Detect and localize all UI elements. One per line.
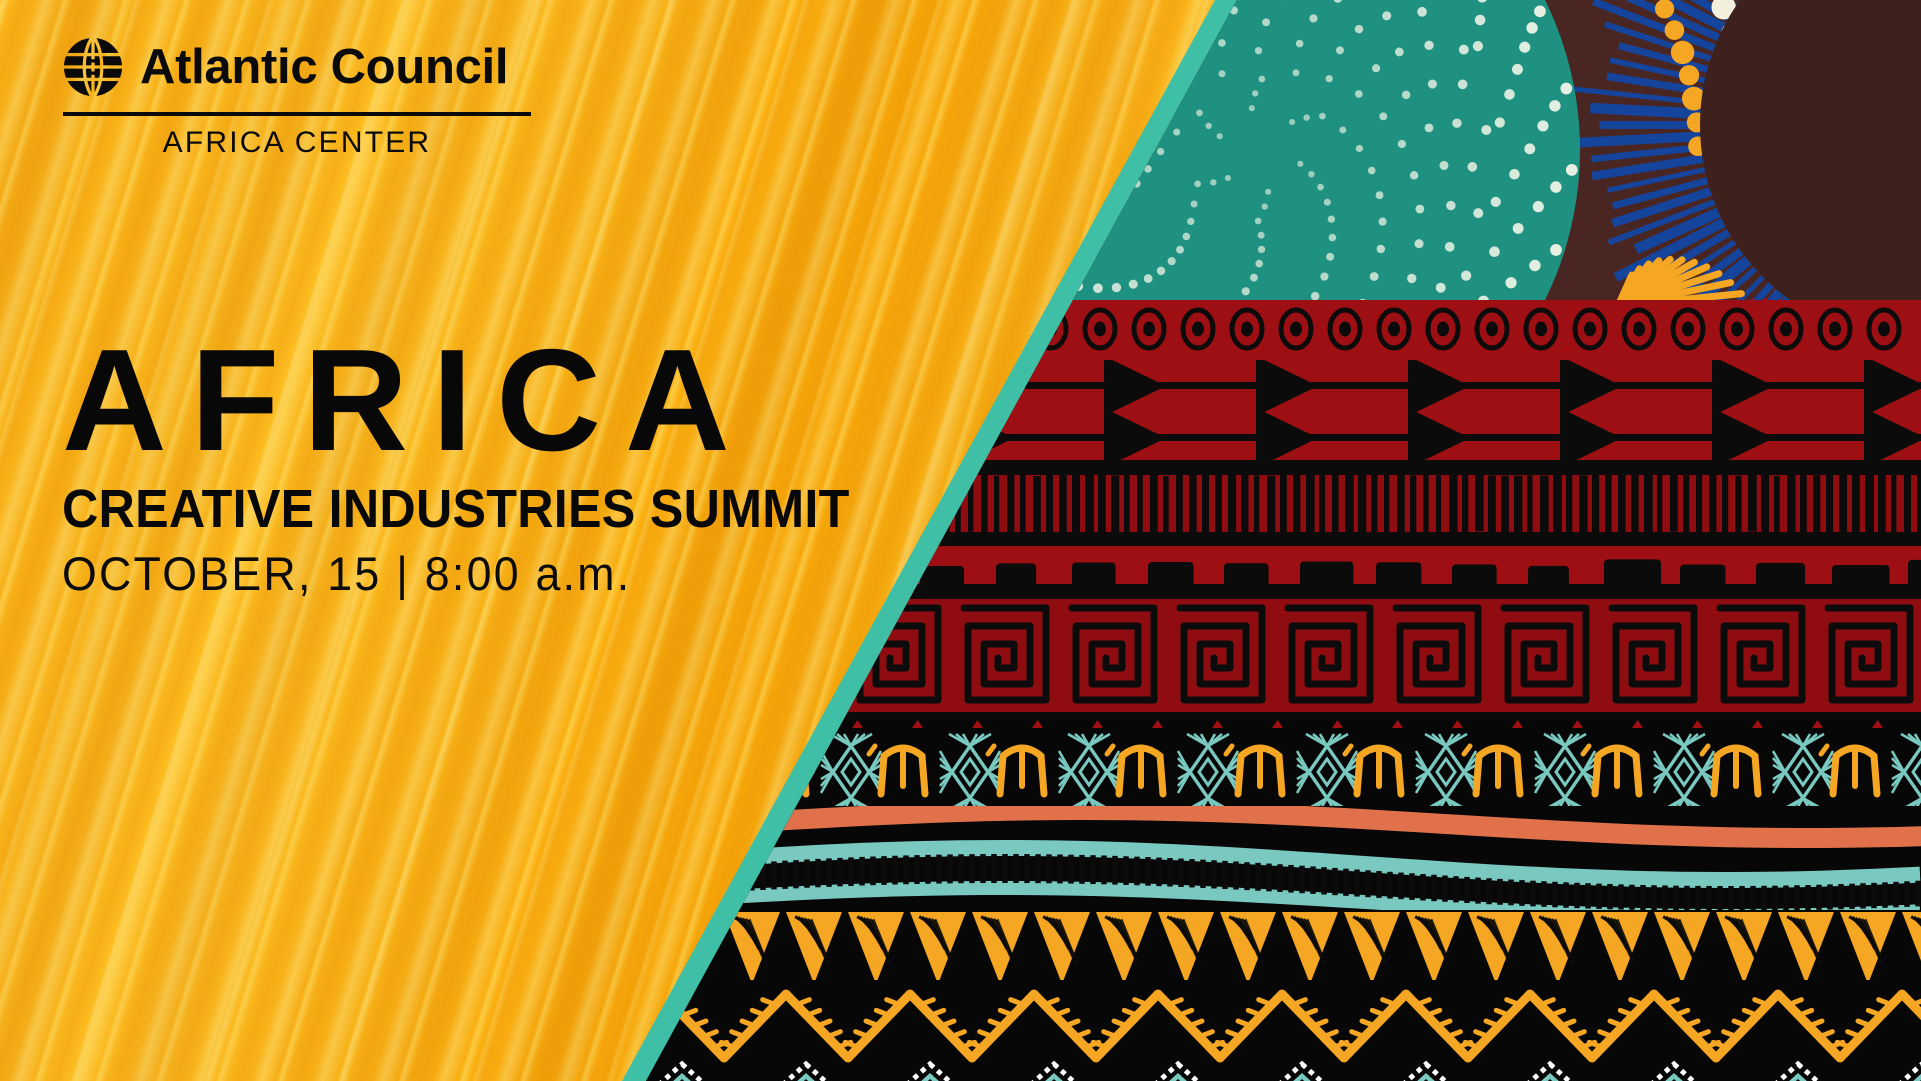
center-name: AFRICA CENTER	[63, 126, 531, 160]
event-datetime: OCTOBER, 15 | 8:00 a.m.	[62, 550, 917, 597]
brand-divider-rule	[63, 112, 531, 116]
brand-lockup: Atlantic Council AFRICA CENTER	[62, 36, 582, 160]
yellow-ray-fan-icon	[1610, 230, 1800, 300]
hero-text-block: AFRICA CREATIVE INDUSTRIES SUMMIT OCTOBE…	[62, 332, 962, 597]
organization-name: Atlantic Council	[140, 43, 508, 92]
event-subtitle: CREATIVE INDUSTRIES SUMMIT	[62, 482, 899, 536]
logo-row: Atlantic Council	[62, 36, 582, 98]
page-title: AFRICA	[62, 332, 962, 468]
poster-canvas: Atlantic Council AFRICA CENTER AFRICA CR…	[0, 0, 1921, 1081]
globe-icon	[62, 36, 124, 98]
